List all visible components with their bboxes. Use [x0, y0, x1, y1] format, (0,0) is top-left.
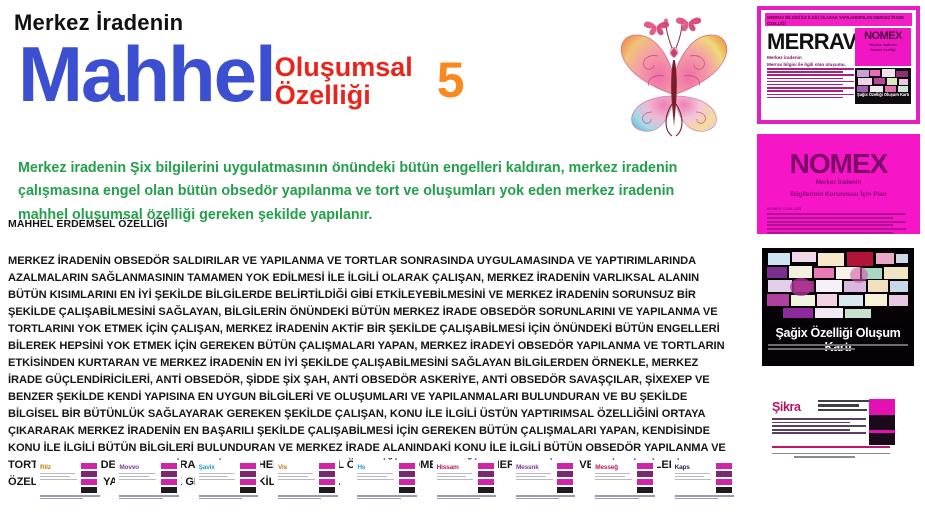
nomex-card[interactable]: NOMEX Merkez İradenin Bilgilerinin Korun… — [757, 134, 920, 234]
merrav-subtitle: Merkez iradenin Merrav bilgisi ile ilgil… — [767, 54, 859, 68]
section-heading: MAHHEL ERDEMSEL ÖZELLİĞİ — [8, 218, 168, 230]
thumbnail-sidebar — [399, 463, 415, 495]
merrav-body-lines — [767, 68, 859, 100]
thumbnail-lines — [516, 473, 556, 481]
sagix-card[interactable]: Şağix Özelliği Oluşum Kartı — [762, 248, 914, 366]
nomex-copy-heading: NOMEX ÖZELLİĞİ — [767, 206, 801, 211]
sagix-caption-lines — [768, 344, 908, 352]
thumbnail-sidebar — [637, 463, 653, 495]
nomex-subtitle-line-2: Bilgilerinin Korunması İçin Plan — [757, 191, 920, 198]
merrav-nomex-badge-sub-2: Nomex özelliği — [855, 48, 911, 53]
page-title: Mahhel — [18, 38, 275, 111]
merrav-nomex-badge-title: NOMEX — [855, 30, 911, 43]
merrav-card[interactable]: MERRAV BİLGİSİ İLE İLGİLİ OLARAK YAPILAN… — [757, 6, 920, 124]
thumbnail-lines — [357, 473, 397, 481]
merrav-photo-thumbnail: Şağix Özelliği Oluşum Kartı — [855, 68, 911, 104]
thumbnail-title: Messnk — [516, 464, 539, 471]
thumbnail-sidebar — [716, 463, 732, 495]
main-content-column: Merkez İradenin Mahhel Oluşumsal Özelliğ… — [0, 0, 752, 527]
thumbnail-lines — [595, 473, 635, 481]
sidebar-column: MERRAV BİLGİSİ İLE İLGİLİ OLARAK YAPILAN… — [752, 0, 925, 527]
nomex-subtitle-line-1: Merkez İradenin — [757, 180, 920, 186]
thumbnail-lines — [119, 473, 159, 481]
thumbnail-card[interactable]: Messnk — [512, 460, 577, 504]
merrav-banner: MERRAV BİLGİSİ İLE İLGİLİ OLARAK YAPILAN… — [765, 13, 912, 26]
thumbnail-footer — [437, 495, 498, 501]
poster-page: Merkez İradenin Mahhel Oluşumsal Özelliğ… — [0, 0, 925, 527]
thumbnail-footer — [357, 495, 418, 501]
lead-paragraph: Merkez iradenin Şix bilgilerini uygulatm… — [18, 157, 718, 226]
thumbnail-sidebar — [478, 463, 494, 495]
thumbnail-footer — [675, 495, 736, 501]
merrav-title: MERRAV — [767, 29, 857, 55]
body-paragraph: MERKEZ İRADENİN OBSEDÖR SALDIRILAR VE YA… — [8, 253, 730, 491]
thumbnail-card[interactable]: Hissam — [433, 460, 498, 504]
thumbnail-title: Rilz — [40, 464, 51, 471]
issue-number: 5 — [437, 55, 465, 105]
thumbnail-footer — [516, 495, 577, 501]
thumbnail-lines — [278, 473, 318, 481]
thumbnail-sidebar — [81, 463, 97, 495]
thumbnail-lines — [199, 473, 239, 481]
merrav-nomex-badge: NOMEX Merkez iradenin Nomex özelliği — [855, 28, 911, 66]
thumbnail-card[interactable]: Messeğ — [591, 460, 656, 504]
thumbnail-title: Kaps — [675, 464, 690, 471]
thumbnail-title: Messeğ — [595, 464, 618, 471]
thumbnail-card[interactable]: Rilz — [36, 460, 101, 504]
merrav-card-inner: MERRAV BİLGİSİ İLE İLGİLİ OLARAK YAPILAN… — [761, 10, 916, 120]
thumbnail-title: Şavix — [199, 464, 215, 471]
thumbnail-title: Hissam — [437, 464, 459, 471]
sikra-thumbnail — [869, 399, 895, 445]
thumbnail-card[interactable]: Movvo — [115, 460, 180, 504]
nomex-body-lines — [767, 213, 910, 234]
merrav-subtitle-line-1: Merkez iradenin — [767, 54, 859, 61]
sagix-collage — [765, 251, 911, 323]
sikra-card[interactable]: Şikra — [766, 392, 911, 464]
thumbnail-lines — [40, 473, 80, 481]
thumbnail-footer — [595, 495, 656, 501]
thumbnail-sidebar — [557, 463, 573, 495]
thumbnail-footer — [40, 495, 101, 501]
sikra-title: Şikra — [772, 400, 801, 414]
thumbnail-strip: RilzMovvoŞavixVisHsHissamMessnkMesseğKap… — [36, 460, 736, 508]
merrav-photo-caption: Şağix Özelliği Oluşum Kartı — [857, 92, 909, 97]
thumbnail-card[interactable]: Şavix — [195, 460, 260, 504]
sikra-divider — [772, 446, 890, 448]
thumbnail-lines — [675, 473, 715, 481]
thumbnail-title: Hs — [357, 464, 365, 471]
title-row: Mahhel Oluşumsal Özelliği 5 — [18, 38, 465, 118]
sikra-headline-lines — [818, 400, 876, 413]
sikra-body-lines — [772, 418, 872, 436]
thumbnail-sidebar — [319, 463, 335, 495]
thumbnail-card[interactable]: Vis — [274, 460, 339, 504]
nomex-title: NOMEX — [757, 150, 920, 178]
thumbnail-card[interactable]: Kaps — [671, 460, 736, 504]
thumbnail-title: Vis — [278, 464, 287, 471]
thumbnail-card[interactable]: Hs — [353, 460, 418, 504]
thumbnail-sidebar — [240, 463, 256, 495]
page-subtitle: Oluşumsal Özelliği — [275, 54, 413, 110]
thumbnail-sidebar — [161, 463, 177, 495]
subtitle-line-1: Oluşumsal — [275, 54, 413, 82]
butterfly-icon — [608, 4, 740, 140]
subtitle-line-2: Özelliği — [275, 82, 413, 110]
sikra-thumbnail-band — [869, 415, 895, 430]
thumbnail-footer — [199, 495, 260, 501]
thumbnail-footer — [119, 495, 180, 501]
sikra-footer-lines — [772, 453, 890, 460]
thumbnail-lines — [437, 473, 477, 481]
thumbnail-title: Movvo — [119, 464, 139, 471]
sikra-thumbnail-band-2 — [869, 433, 895, 445]
thumbnail-footer — [278, 495, 339, 501]
